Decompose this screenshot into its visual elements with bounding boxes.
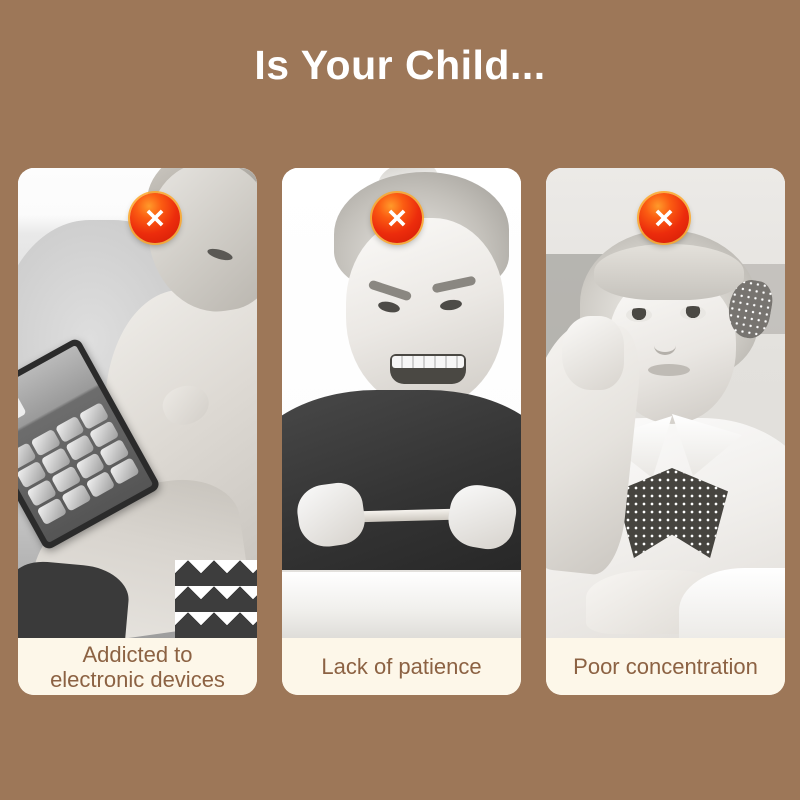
card-caption-addicted: Addicted to electronic devices [18,638,257,695]
lock-icon [18,396,27,426]
page-title: Is Your Child... [0,40,800,90]
white-table [282,570,521,638]
x-mark-icon [372,193,422,243]
x-mark-icon [130,193,180,243]
quilt-pattern [175,560,257,638]
card-caption-text: Lack of patience [321,654,481,679]
girl-bangs-shape [594,244,744,300]
girl-eye-left [626,308,652,322]
girl-eye-right [680,306,706,320]
boy-teeth [392,356,464,368]
promo-banner: Is Your Child... [0,0,800,800]
card-caption-text: Poor concentration [573,654,758,679]
girl-nose [654,336,676,355]
problem-card-list: Addicted to electronic devices [18,168,783,695]
boy-gritted-mouth [390,354,466,384]
girl-lips [648,364,690,376]
x-mark-icon [639,193,689,243]
card-photo-addicted [18,168,257,638]
problem-card-concentration[interactable]: Poor concentration [546,168,785,695]
card-caption-concentration: Poor concentration [546,638,785,695]
card-caption-impatience: Lack of patience [282,638,521,695]
problem-card-impatience[interactable]: Lack of patience [282,168,521,695]
problem-card-addicted[interactable]: Addicted to electronic devices [18,168,257,695]
card-caption-text: Addicted to electronic devices [50,642,225,692]
girl-fist-on-chin [562,316,624,390]
